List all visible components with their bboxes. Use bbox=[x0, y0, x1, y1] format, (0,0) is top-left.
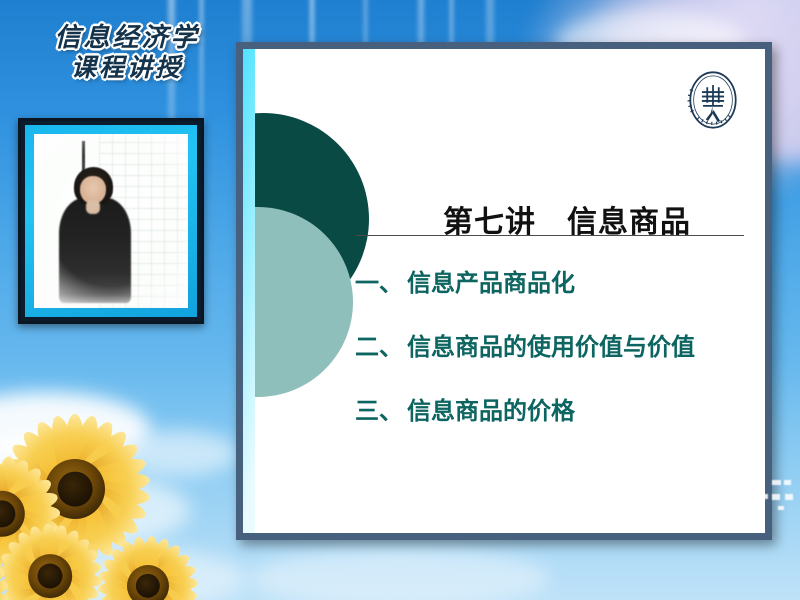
bullet-item-3: 三、 信息商品的价格 bbox=[355, 391, 757, 426]
video-vignette bbox=[34, 134, 188, 308]
sunflower-core bbox=[127, 565, 169, 600]
slide-stage: 信息经济学 课程讲授 bbox=[0, 0, 800, 600]
bullet-number-2: 二、 bbox=[355, 327, 403, 362]
slide-bullet-list: 一、 信息产品商品化 二、 信息商品的使用价值与价值 三、 信息商品的价格 bbox=[355, 263, 757, 455]
lecturer-video-feed bbox=[34, 134, 188, 308]
video-frame-inner bbox=[25, 125, 197, 317]
bullet-text-3: 信息商品的价格 bbox=[407, 391, 575, 426]
lecturer-video-panel[interactable] bbox=[18, 118, 204, 324]
title-divider bbox=[356, 235, 744, 236]
margin-decoration-marks bbox=[758, 472, 798, 532]
sunflower-petals bbox=[0, 546, 8, 600]
sunflower-decoration bbox=[0, 396, 260, 600]
cloud bbox=[250, 548, 550, 600]
bullet-item-1: 一、 信息产品商品化 bbox=[355, 263, 757, 298]
slide-content: 第七讲 信息商品 一、 信息产品商品化 二、 信息商品的使用价值与价值 三、 信… bbox=[255, 49, 765, 533]
sunflower-core bbox=[28, 554, 72, 598]
bullet-text-1: 信息产品商品化 bbox=[407, 263, 575, 298]
bullet-number-3: 三、 bbox=[355, 391, 403, 426]
bullet-text-2: 信息商品的使用价值与价值 bbox=[407, 327, 695, 362]
slide-inner-border: 第七讲 信息商品 一、 信息产品商品化 二、 信息商品的使用价值与价值 三、 信… bbox=[243, 49, 765, 533]
presentation-slide[interactable]: 第七讲 信息商品 一、 信息产品商品化 二、 信息商品的使用价值与价值 三、 信… bbox=[236, 42, 772, 540]
bullet-item-2: 二、 信息商品的使用价值与价值 bbox=[355, 327, 757, 362]
bullet-number-1: 一、 bbox=[355, 263, 403, 298]
huazhong-university-seal-icon bbox=[685, 69, 741, 131]
